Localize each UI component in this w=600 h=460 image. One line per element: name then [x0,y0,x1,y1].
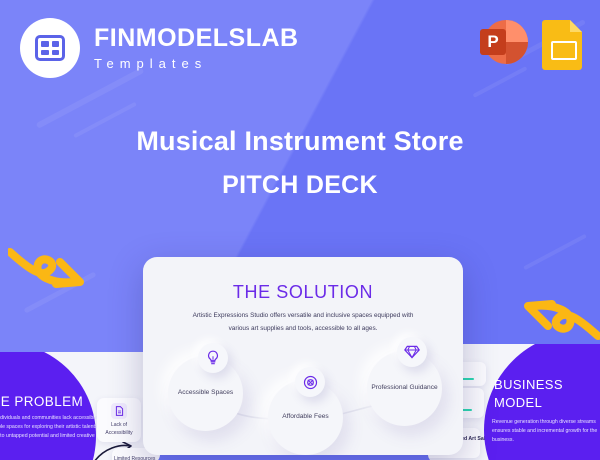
solution-body: Artistic Expressions Studio offers versa… [189,309,417,335]
slides-inner-rect [551,41,577,60]
diamond-icon [397,337,427,367]
slides-fold-corner [570,20,582,32]
document-icon [111,403,127,419]
grid-logo-icon [35,35,65,61]
page-subtitle: PITCH DECK [0,171,600,200]
lightbulb-icon [198,343,228,373]
bubble-label: Professional Guidance [371,383,437,394]
squiggly-arrow-right-icon [8,244,98,304]
problem-card-label: Lack of Accessibility [97,422,141,437]
brand-text: FINMODELSLAB Templates [94,26,299,70]
brand-tagline: Templates [94,57,299,70]
slide-the-solution[interactable]: THE SOLUTION Artistic Expressions Studio… [143,257,463,455]
target-gem-icon [295,367,325,397]
brand-logo: FINMODELSLAB Templates [20,18,299,78]
hero-title-block: Musical Instrument Store PITCH DECK [0,126,600,200]
business-body: Revenue generation through diverse strea… [492,418,600,445]
slide-the-problem[interactable]: THE PROBLEM Many individuals and communi… [0,352,160,460]
bubble-label: Accessible Spaces [178,388,233,399]
powerpoint-letter: P [480,29,506,55]
google-slides-icon[interactable] [542,20,582,70]
page-title: Musical Instrument Store [0,126,600,157]
business-title: BUSINESS MODEL [494,376,600,411]
problem-body: Many individuals and communities lack ac… [0,414,102,450]
bubble-label: Affordable Fees [282,412,328,423]
format-icons: P [480,20,582,70]
slide-canvas: FINMODELSLAB Templates P Musical Instrum… [0,0,600,460]
powerpoint-icon[interactable]: P [480,20,528,68]
solution-title: THE SOLUTION [143,282,463,303]
logo-circle [20,18,80,78]
problem-card-accessibility[interactable]: Lack of Accessibility [97,398,141,442]
problem-card-label: Limited Resources [114,456,155,460]
brand-name: FINMODELSLAB [94,26,299,51]
